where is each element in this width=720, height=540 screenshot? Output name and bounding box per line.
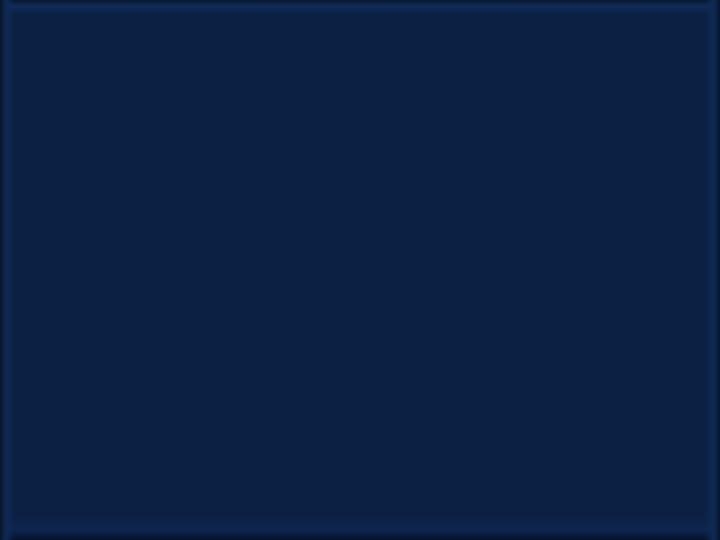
list-item[interactable]: 3. Temperament tiplarining psixologik xu…: [54, 302, 666, 354]
list-item-number: 2.: [68, 241, 86, 264]
list-item-content: 3. Temperament tiplarining psixologik xu…: [68, 317, 510, 340]
presentation-slide: SOFT SOFT SOFT: [0, 0, 720, 540]
list-item-label: Temperament tiplarining tavsifnomasi: [83, 397, 467, 420]
list-item-content: 4. Temperament tiplarining tavsifnomasi: [68, 397, 467, 421]
slide-background: SOFT SOFT SOFT: [9, 8, 711, 527]
list-item[interactable]: 4. Temperament tiplarining tavsifnomasi: [54, 380, 666, 436]
list-item[interactable]: 2.Temperamentning fiziologik asoslari: [54, 222, 666, 283]
list-item-content: 2.Temperamentning fiziologik asoslari: [68, 241, 448, 265]
list-item-number: 3.: [68, 317, 83, 339]
list-item-label: Temperament haqida tushuncha: [83, 146, 405, 169]
list-item-content: 1.Temperament haqida tushuncha: [68, 146, 405, 170]
list-item-number: 4.: [68, 398, 83, 420]
agenda-list: 1.Temperament haqida tushuncha 2.Tempera…: [9, 8, 711, 527]
list-item[interactable]: 1.Temperament haqida tushuncha: [54, 115, 666, 199]
list-item-number: 1.: [68, 147, 83, 169]
list-item-label: Temperament tiplarining psixologik xusus…: [83, 317, 510, 339]
list-item-label: Temperamentning fiziologik asoslari: [86, 241, 449, 264]
